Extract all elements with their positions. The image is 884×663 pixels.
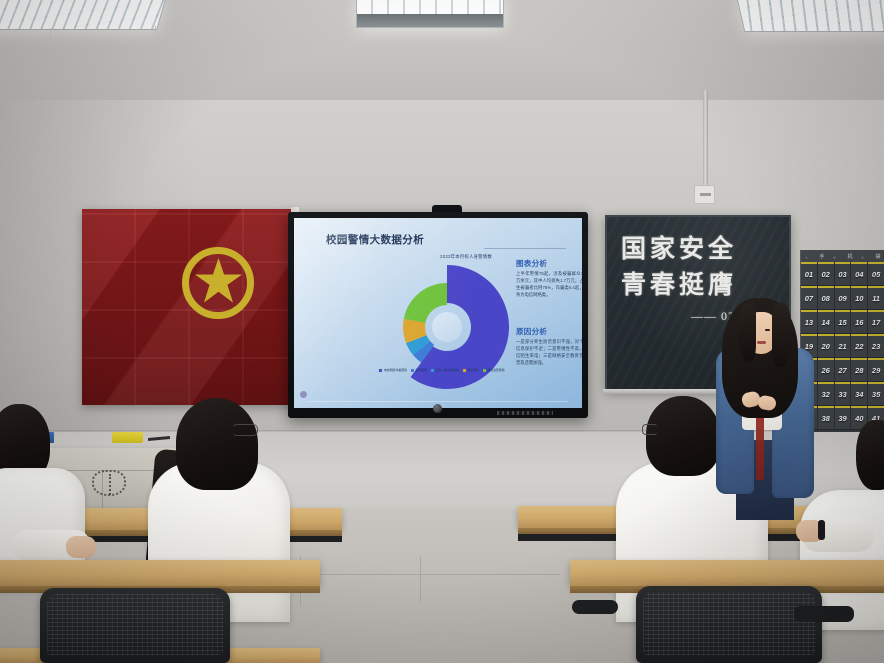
pocket-number: 09: [838, 294, 846, 303]
donut-chart: [382, 262, 512, 392]
presenter-mouth: [757, 341, 766, 344]
phone-pocket[interactable]: 03: [835, 262, 852, 286]
legend-label: 盗窃警情: [416, 368, 428, 372]
pocket-header-char: 。: [833, 253, 838, 260]
tv-power-button[interactable]: [433, 404, 442, 413]
pocket-number: 03: [838, 270, 846, 279]
phone-pocket[interactable]: 23: [868, 334, 884, 358]
pocket-header-char: 袋: [875, 253, 880, 260]
ceiling-light-panel-left: [0, 0, 167, 30]
desk-front-right: [570, 560, 884, 586]
phone-pocket[interactable]: 08: [818, 286, 835, 310]
phone-pocket[interactable]: 26: [818, 358, 835, 382]
title-rule: [484, 248, 566, 249]
communist-youth-league-flag: [82, 209, 295, 405]
legend-item: 求助警情: [463, 368, 479, 372]
student-far-right-hair: [856, 420, 884, 490]
pocket-number: 28: [855, 366, 863, 375]
phone-pocket[interactable]: 29: [868, 358, 884, 382]
pocket-number: 23: [872, 342, 880, 351]
blackboard-line-1: 国家安全: [621, 229, 737, 265]
pocket-number: 17: [872, 318, 880, 327]
pocket-number: 13: [805, 318, 813, 327]
pocket-number: 05: [872, 270, 880, 279]
phone-pocket[interactable]: 35: [868, 382, 884, 406]
pocket-number: 35: [872, 390, 880, 399]
phone-pocket[interactable]: 09: [835, 286, 852, 310]
pocket-header-char: 机: [847, 253, 852, 260]
phone-pocket[interactable]: 34: [851, 382, 868, 406]
pocket-number: 16: [855, 318, 863, 327]
pocket-number: 40: [855, 414, 863, 423]
pocket-number: 32: [822, 390, 830, 399]
screen-bottom-rule: [308, 401, 568, 402]
phone-pocket[interactable]: 01: [801, 262, 818, 286]
pocket-number: 22: [855, 342, 863, 351]
cable-conduit: [703, 90, 708, 188]
legend-label: 求助警情: [467, 368, 479, 372]
legend-item: 打架斗殴纠纷警情: [431, 368, 459, 372]
pocket-number: 27: [838, 366, 846, 375]
student-ponytail-hair: [176, 398, 258, 490]
pocket-header-char: 、: [805, 253, 810, 260]
wristwatch: [818, 520, 825, 540]
pocket-number: 33: [838, 390, 846, 399]
pocket-number: 34: [855, 390, 863, 399]
legend-label: 电信网络诈骗警情: [384, 368, 407, 372]
tv-vent-grille: [497, 411, 553, 415]
ceiling-light-panel-center: [356, 0, 504, 28]
legend-swatch: [483, 369, 486, 372]
phone-pocket[interactable]: 27: [835, 358, 852, 382]
phone-pocket[interactable]: 38: [818, 406, 835, 430]
pocket-number: 02: [822, 270, 830, 279]
phone-pocket[interactable]: 07: [801, 286, 818, 310]
phone-pocket[interactable]: 14: [818, 310, 835, 334]
analysis-panel-chart: 图表分析 上半年警情75起，涉及被骗群众128万余元，其中人均损失1.7万元，占…: [516, 258, 582, 299]
phone-pocket[interactable]: 15: [835, 310, 852, 334]
legend-swatch: [463, 369, 466, 372]
panel-heading: 原因分析: [516, 326, 582, 337]
legend-item: 其他治安警情: [483, 368, 505, 372]
pocket-number: 20: [822, 342, 830, 351]
smart-tv-display[interactable]: 校园警情大数据分析 2023年本月校人身警情数 电信网络诈骗警情盗窃警情打架斗殴…: [288, 212, 588, 418]
chair-armrest[interactable]: [572, 600, 618, 614]
legend-label: 其他治安警情: [487, 368, 504, 372]
pocket-number: 01: [805, 270, 813, 279]
podium-logo-icon: [92, 470, 126, 496]
pocket-number: 39: [838, 414, 846, 423]
legend-item: 盗窃警情: [411, 368, 427, 372]
pocket-number: 11: [872, 294, 880, 303]
phone-pocket[interactable]: 28: [851, 358, 868, 382]
student-short-hair: [646, 396, 720, 476]
phone-pocket[interactable]: 21: [835, 334, 852, 358]
pocket-number: 15: [838, 318, 846, 327]
phone-pocket[interactable]: 33: [835, 382, 852, 406]
phone-pocket[interactable]: 17: [868, 310, 884, 334]
classroom-scene: 校园警情大数据分析 2023年本月校人身警情数 电信网络诈骗警情盗窃警情打架斗殴…: [0, 0, 884, 663]
pocket-number: 29: [872, 366, 880, 375]
student-front-left-hand: [66, 536, 96, 558]
presenter-hair-front-left: [738, 303, 756, 361]
donut-center-hole: [432, 312, 462, 342]
ceiling-light-panel-right: [736, 0, 884, 32]
pocket-header-char: 手: [819, 253, 824, 260]
panel-body: 一是部分师生防范意识不强，对个人信息保护不足；二是警惕性不高，轻信陌生来电；三是…: [516, 339, 582, 367]
chair-right[interactable]: [636, 586, 822, 663]
legend-swatch: [431, 369, 434, 372]
pocket-header: 、手。机。袋: [801, 250, 884, 262]
phone-pocket[interactable]: 10: [851, 286, 868, 310]
phone-pocket[interactable]: 04: [851, 262, 868, 286]
phone-pocket[interactable]: 20: [818, 334, 835, 358]
legend-swatch: [411, 369, 414, 372]
phone-pocket[interactable]: 39: [835, 406, 852, 430]
phone-pocket[interactable]: 16: [851, 310, 868, 334]
pocket-number: 14: [822, 318, 830, 327]
chair-left[interactable]: [40, 588, 230, 663]
eyeglasses-icon: [642, 424, 658, 435]
phone-pocket[interactable]: 05: [868, 262, 884, 286]
pocket-number: 10: [855, 294, 863, 303]
wall-outlet: [694, 185, 715, 204]
panel-body: 上半年警情75起，涉及被骗群众128万余元，其中人均损失1.7万元，占学生被骗者…: [516, 271, 582, 299]
phone-pocket[interactable]: 32: [818, 382, 835, 406]
slide-title: 校园警情大数据分析: [326, 232, 424, 247]
screen-corner-dot: [300, 391, 307, 398]
eyeglasses-icon: [232, 424, 258, 436]
yellow-tape-roll: [112, 432, 143, 443]
legend-label: 打架斗殴纠纷警情: [436, 368, 459, 372]
pocket-header-char: 。: [861, 253, 866, 260]
phone-pocket[interactable]: 13: [801, 310, 818, 334]
desk-front-left: [0, 560, 320, 586]
legend-swatch: [379, 369, 382, 372]
pocket-number: 07: [805, 294, 813, 303]
pocket-number: 38: [822, 414, 830, 423]
pocket-number: 04: [855, 270, 863, 279]
panel-heading: 图表分析: [516, 258, 582, 269]
blackboard-line-2: 青春挺膺: [621, 265, 737, 301]
chart-legend: 电信网络诈骗警情盗窃警情打架斗殴纠纷警情求助警情其他治安警情: [352, 368, 532, 372]
phone-pocket[interactable]: 22: [851, 334, 868, 358]
pocket-number: 08: [822, 294, 830, 303]
phone-pocket[interactable]: 02: [818, 262, 835, 286]
phone-pocket[interactable]: 11: [868, 286, 884, 310]
pocket-number: 26: [822, 366, 830, 375]
pocket-number: 21: [838, 342, 846, 351]
legend-item: 电信网络诈骗警情: [379, 368, 407, 372]
analysis-panel-cause: 原因分析 一是部分师生防范意识不强，对个人信息保护不足；二是警惕性不高，轻信陌生…: [516, 326, 582, 367]
tv-screen[interactable]: 校园警情大数据分析 2023年本月校人身警情数 电信网络诈骗警情盗窃警情打架斗殴…: [294, 218, 582, 408]
chair-armrest[interactable]: [794, 606, 854, 622]
